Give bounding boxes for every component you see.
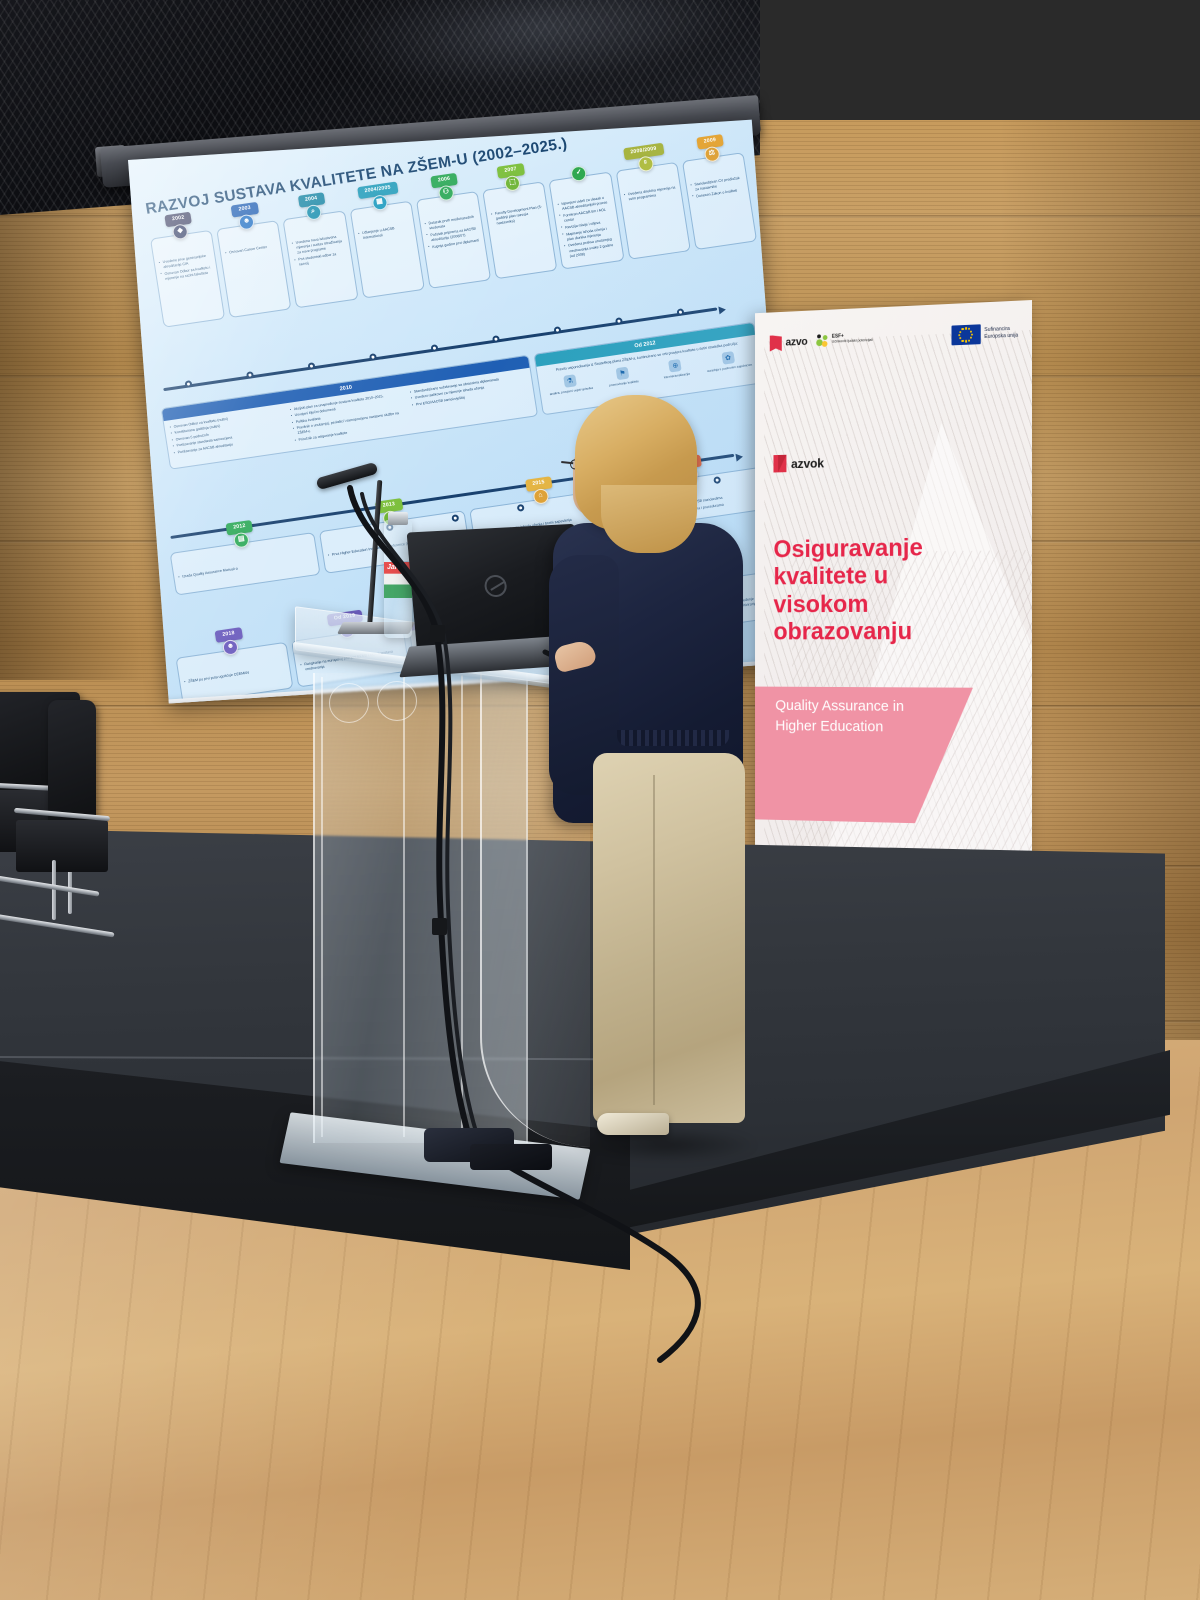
timeline-arrow-head-1 (718, 305, 726, 314)
handshake-icon: ✿ (721, 351, 735, 365)
timeline-bullet-list: Uvedena direktna mjerenja na svim progra… (624, 185, 677, 203)
group-icon: ⚇ (438, 184, 455, 201)
azvo-bookmark-icon (770, 335, 782, 352)
analysis-icon: ⚗ (563, 374, 577, 388)
timeline-bullet: Faculty Development Plan (5-godišnji pla… (491, 205, 545, 228)
power-strip (470, 1144, 552, 1170)
timeline-bullet: Učlanjenje u AACSB International (358, 224, 411, 242)
speaker-shoe (597, 1113, 669, 1135)
timeline-icon-label: suradnja s poslovnim zajednicom (704, 362, 754, 373)
timeline-node (553, 326, 561, 334)
timeline-card: 2002◆Uvedene prve generacijske akreditac… (150, 230, 225, 328)
timeline-bullet-list: Standardiziran CV predložak za nastavnik… (690, 176, 744, 200)
timeline-bullet: Osnovan Career Center (225, 244, 277, 257)
speaker-trousers (593, 753, 745, 1123)
timeline-bullet-list: Učlanjenje u AACSB International (358, 224, 411, 242)
timeline-node (676, 308, 684, 316)
calendar-icon: ▦ (371, 194, 388, 211)
timeline-card: 2007⬚Faculty Development Plan (5-godišnj… (482, 181, 557, 279)
timeline-card: 2004⌕Uvedena nova iskustvena mjerenja i … (283, 210, 358, 308)
timeline-node (184, 380, 192, 388)
timeline-node (369, 353, 377, 361)
bar-chart-icon: ᵍ (637, 155, 654, 172)
speaker-lace-trim (617, 730, 729, 746)
timeline-row-1: 2002◆Uvedene prve generacijske akreditac… (150, 152, 757, 327)
azvok-mark-icon (773, 455, 786, 473)
timeline-icon-label: promoviranje kvalitete (599, 378, 649, 389)
timeline-wide-card-2010: 2010Osnovan Odbor za kvalitetu (nultni)K… (161, 355, 539, 470)
azvok-brand-text: azvok (791, 455, 824, 470)
search-icon: ⌕ (305, 204, 322, 221)
eu-logo: Sufinancira Europska unija (951, 323, 1018, 346)
timeline-bullet: Uvedena direktna mjerenja na svim progra… (624, 185, 677, 203)
eu-logo-text: Sufinancira Europska unija (984, 326, 1018, 341)
azvo-logo: azvo (770, 334, 808, 352)
esf-flower-icon (816, 334, 829, 349)
esf-subtitle: Učinkoviti ljudski potencijali (832, 338, 873, 344)
timeline-card: 2004/2005▦Učlanjenje u AACSB Internation… (349, 201, 424, 299)
people-icon: ☻ (238, 214, 255, 231)
speaker-trouser-seam (653, 775, 655, 1105)
timeline-bullet-list: Dolazak prvih međunarodnih studenataPoče… (424, 214, 480, 250)
timeline-node (615, 317, 623, 325)
timeline-bullet-list: Faculty Development Plan (5-godišnji pla… (491, 205, 545, 228)
esf-logo-text: ESF+ Učinkoviti ljudski potencijali (832, 332, 873, 345)
timeline-node (430, 344, 438, 352)
timeline-icon-label: internacionalizacija (652, 370, 702, 381)
timeline-bullet-list: Uvedene prve generacijske akreditacije C… (158, 253, 213, 283)
globe-icon: ⊕ (668, 359, 682, 373)
speaker (545, 395, 755, 1155)
timeline-bullet-list: Uvedena nova iskustvena mjerenja i susta… (291, 234, 347, 269)
timeline-node (492, 335, 500, 343)
award-icon: ⚑ (616, 367, 630, 381)
timeline-card: 2008/2009ᵍUvedena direktna mjerenja na s… (615, 162, 690, 260)
timeline-card: 2009⚖Standardiziran CV predložak za nast… (682, 152, 757, 250)
conference-room-scene: RAZVOJ SUSTAVA KVALITETE NA ZŠEM-U (2002… (0, 0, 1200, 1600)
cable-clip-upper (430, 625, 445, 642)
check-circle-icon: ✓ (571, 165, 588, 182)
timeline-bullet-list: Ispunjeni uvjeti za ulazak u AACSB akred… (557, 195, 618, 260)
timeline-bullet-list: Osnovan Career Center (225, 244, 277, 257)
cable-clip-lower (432, 918, 447, 935)
eu-line-1: Sufinancira (984, 326, 1010, 333)
timeline-node (307, 362, 315, 370)
eu-line-2: Europska unija (984, 333, 1018, 340)
azvo-logo-text: azvo (785, 336, 807, 349)
ceiling-light-glow (330, 0, 750, 104)
timeline-card: 2003☻Osnovan Career Center (216, 220, 291, 318)
eu-flag-icon (951, 324, 980, 345)
timeline-node (246, 371, 254, 379)
chart-icon: ⬚ (504, 175, 521, 192)
shield-icon: ◆ (172, 223, 189, 240)
scales-icon: ⚖ (703, 146, 720, 163)
esf-logo: ESF+ Učinkoviti ljudski potencijali (816, 332, 873, 349)
timeline-card: 2006⚇Dolazak prvih međunarodnih studenat… (416, 191, 491, 289)
timeline-card: ✓Ispunjeni uvjeti za ulazak u AACSB akre… (549, 172, 624, 270)
azvok-brand-lockup: azvok (773, 454, 823, 473)
